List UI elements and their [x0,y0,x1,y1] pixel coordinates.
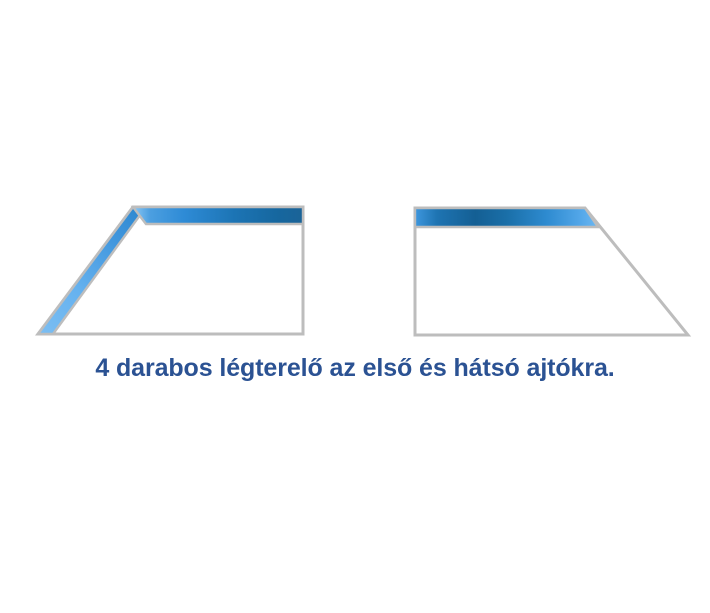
illustration-canvas: 4 darabos légterelő az első és hátsó ajt… [0,0,710,613]
rear-door-deflector [415,208,688,335]
front-deflector-body [38,207,303,334]
product-caption: 4 darabos légterelő az első és hátsó ajt… [0,352,710,384]
front-door-deflector [38,207,303,334]
wind-deflector-pair-diagram [0,0,710,613]
